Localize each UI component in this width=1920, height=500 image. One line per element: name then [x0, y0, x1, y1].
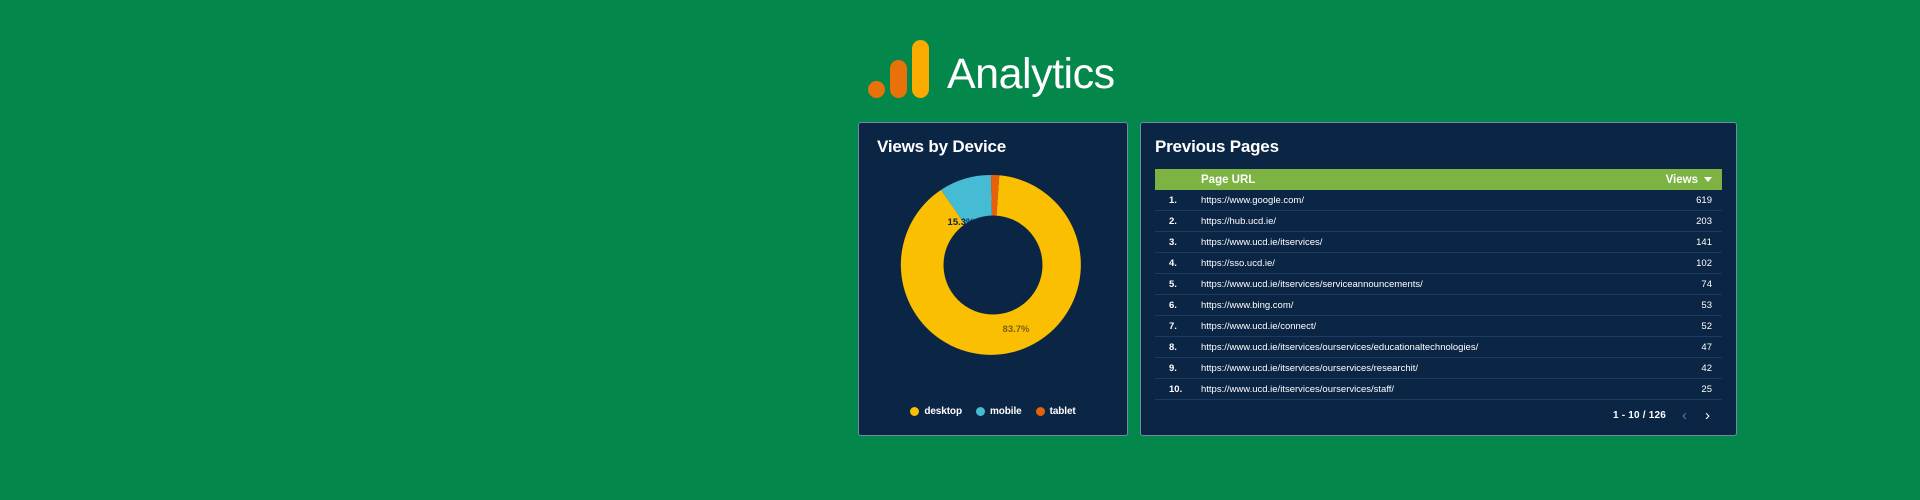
row-views: 25 [1701, 384, 1712, 395]
next-page-button[interactable]: › [1703, 408, 1712, 423]
row-page-url[interactable]: https://www.bing.com/ [1201, 300, 1701, 311]
table-row[interactable]: 4.https://sso.ucd.ie/102 [1155, 253, 1722, 274]
table-row[interactable]: 9.https://www.ucd.ie/itservices/ourservi… [1155, 358, 1722, 379]
previous-page-button[interactable]: ‹ [1680, 408, 1689, 423]
table-row[interactable]: 10.https://www.ucd.ie/itservices/ourserv… [1155, 379, 1722, 400]
logo-bar-medium-icon [890, 60, 907, 98]
logo-bar-tall-icon [912, 40, 929, 98]
legend-dot-tablet-icon [1036, 407, 1045, 416]
column-header-views[interactable]: Views [1666, 174, 1712, 186]
device-legend: desktop mobile tablet [859, 406, 1127, 417]
table-row[interactable]: 7.https://www.ucd.ie/connect/52 [1155, 316, 1722, 337]
row-views: 141 [1696, 237, 1712, 248]
row-page-url[interactable]: https://www.ucd.ie/itservices/ourservice… [1201, 342, 1701, 353]
google-analytics-logo-icon [868, 40, 929, 98]
row-rank: 5. [1155, 279, 1201, 290]
table-body: 1.https://www.google.com/6192.https://hu… [1155, 190, 1722, 400]
row-views: 203 [1696, 216, 1712, 227]
row-rank: 9. [1155, 363, 1201, 374]
row-views: 102 [1696, 258, 1712, 269]
row-views: 47 [1701, 342, 1712, 353]
previous-pages-card: Previous Pages Page URL Views 1.https://… [1140, 122, 1737, 436]
row-page-url[interactable]: https://www.ucd.ie/itservices/ourservice… [1201, 363, 1701, 374]
legend-item-tablet[interactable]: tablet [1036, 406, 1076, 417]
row-page-url[interactable]: https://www.google.com/ [1201, 195, 1696, 206]
row-rank: 3. [1155, 237, 1201, 248]
donut-svg: 15.3% 83.7% [893, 165, 1093, 365]
legend-dot-desktop-icon [910, 407, 919, 416]
row-rank: 10. [1155, 384, 1201, 395]
table-header-row: Page URL Views [1155, 169, 1722, 190]
row-views: 42 [1701, 363, 1712, 374]
legend-label-tablet: tablet [1050, 406, 1076, 417]
table-row[interactable]: 5.https://www.ucd.ie/itservices/servicea… [1155, 274, 1722, 295]
table-row[interactable]: 1.https://www.google.com/619 [1155, 190, 1722, 211]
views-by-device-card: Views by Device 15.3% 83.7% desktop [858, 122, 1128, 436]
legend-label-desktop: desktop [924, 406, 962, 417]
logo-bar-small-icon [868, 81, 885, 98]
pagination: 1 - 10 / 126 ‹ › [1155, 400, 1722, 430]
caret-down-icon [1704, 177, 1712, 182]
legend-item-desktop[interactable]: desktop [910, 406, 962, 417]
row-views: 74 [1701, 279, 1712, 290]
row-rank: 4. [1155, 258, 1201, 269]
row-rank: 1. [1155, 195, 1201, 206]
row-rank: 2. [1155, 216, 1201, 227]
views-by-device-title: Views by Device [877, 137, 1109, 157]
donut-label-desktop: 83.7% [1003, 324, 1030, 335]
table-row[interactable]: 8.https://www.ucd.ie/itservices/ourservi… [1155, 337, 1722, 358]
dashboard-page: Analytics Views by Device 15.3% 83.7% de… [0, 0, 1920, 500]
row-views: 53 [1701, 300, 1712, 311]
row-page-url[interactable]: https://www.ucd.ie/itservices/serviceann… [1201, 279, 1701, 290]
legend-label-mobile: mobile [990, 406, 1022, 417]
row-page-url[interactable]: https://www.ucd.ie/connect/ [1201, 321, 1701, 332]
row-page-url[interactable]: https://sso.ucd.ie/ [1201, 258, 1696, 269]
column-header-page-url[interactable]: Page URL [1201, 174, 1666, 186]
brand-header: Analytics [868, 36, 1115, 98]
brand-title: Analytics [947, 50, 1115, 98]
previous-pages-title: Previous Pages [1155, 137, 1722, 157]
pagination-range: 1 - 10 / 126 [1613, 410, 1666, 421]
column-header-views-label: Views [1666, 174, 1698, 186]
table-row[interactable]: 3.https://www.ucd.ie/itservices/141 [1155, 232, 1722, 253]
row-rank: 8. [1155, 342, 1201, 353]
row-page-url[interactable]: https://hub.ucd.ie/ [1201, 216, 1696, 227]
donut-hole [944, 216, 1043, 315]
legend-item-mobile[interactable]: mobile [976, 406, 1022, 417]
donut-label-mobile: 15.3% [948, 217, 975, 228]
table-row[interactable]: 6.https://www.bing.com/53 [1155, 295, 1722, 316]
previous-pages-table: Page URL Views 1.https://www.google.com/… [1155, 169, 1722, 430]
legend-dot-mobile-icon [976, 407, 985, 416]
row-rank: 7. [1155, 321, 1201, 332]
table-row[interactable]: 2.https://hub.ucd.ie/203 [1155, 211, 1722, 232]
device-donut-chart: 15.3% 83.7% [877, 165, 1109, 387]
row-page-url[interactable]: https://www.ucd.ie/itservices/ourservice… [1201, 384, 1701, 395]
row-views: 619 [1696, 195, 1712, 206]
row-page-url[interactable]: https://www.ucd.ie/itservices/ [1201, 237, 1696, 248]
row-rank: 6. [1155, 300, 1201, 311]
row-views: 52 [1701, 321, 1712, 332]
